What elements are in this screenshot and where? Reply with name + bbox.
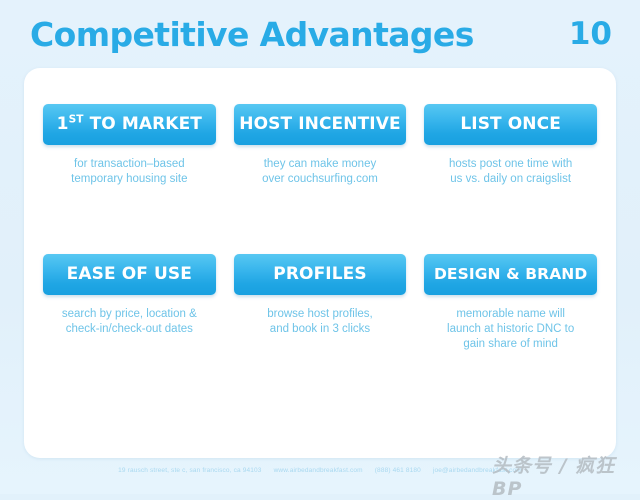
content-card: 1st TO MARKET for transaction–based temp… (24, 68, 616, 458)
advantage-item-host-incentive: HOST INCENTIVE they can make money over … (225, 104, 416, 187)
slide-footer: 19 rausch street, ste c, san francisco, … (0, 466, 640, 476)
page-title: Competitive Advantages (30, 18, 474, 51)
pill-label-number: 1 (57, 114, 69, 134)
footer-email[interactable]: joe@airbedandbreakfast.com (433, 467, 522, 474)
advantage-pill-design-and-brand[interactable]: DESIGN & BRAND (424, 254, 597, 295)
advantage-item-list-once: LIST ONCE hosts post one time with us vs… (415, 104, 606, 187)
advantages-grid: 1st TO MARKET for transaction–based temp… (24, 68, 616, 352)
advantage-item-design-and-brand: DESIGN & BRAND memorable name will launc… (415, 254, 606, 352)
advantage-pill-host-incentive[interactable]: HOST INCENTIVE (234, 104, 407, 145)
pill-label-rest: TO MARKET (84, 114, 202, 134)
advantage-pill-profiles[interactable]: PROFILES (234, 254, 407, 295)
advantage-caption-list-once: hosts post one time with us vs. daily on… (424, 157, 597, 187)
advantage-item-ease-of-use: EASE OF USE search by price, location & … (34, 254, 225, 352)
advantage-caption-host-incentive: they can make money over couchsurfing.co… (234, 157, 407, 187)
advantage-pill-ease-of-use[interactable]: EASE OF USE (43, 254, 216, 295)
page-number: 10 (569, 19, 612, 50)
slide: Competitive Advantages 10 1st TO MARKET … (0, 0, 640, 494)
advantage-item-first-to-market: 1st TO MARKET for transaction–based temp… (34, 104, 225, 187)
footer-phone: (888) 461 8180 (375, 467, 421, 474)
pill-label-superscript: st (69, 113, 84, 125)
advantage-caption-profiles: browse host profiles, and book in 3 clic… (234, 307, 407, 337)
advantage-pill-list-once[interactable]: LIST ONCE (424, 104, 597, 145)
advantage-caption-first-to-market: for transaction–based temporary housing … (43, 157, 216, 187)
advantage-item-profiles: PROFILES browse host profiles, and book … (225, 254, 416, 352)
advantage-caption-ease-of-use: search by price, location & check-in/che… (43, 307, 216, 337)
advantage-pill-first-to-market[interactable]: 1st TO MARKET (43, 104, 216, 145)
advantage-caption-design-and-brand: memorable name will launch at historic D… (424, 307, 597, 352)
footer-website[interactable]: www.airbedandbreakfast.com (274, 467, 363, 474)
footer-address: 19 rausch street, ste c, san francisco, … (118, 467, 261, 474)
slide-header: Competitive Advantages 10 (0, 0, 640, 68)
